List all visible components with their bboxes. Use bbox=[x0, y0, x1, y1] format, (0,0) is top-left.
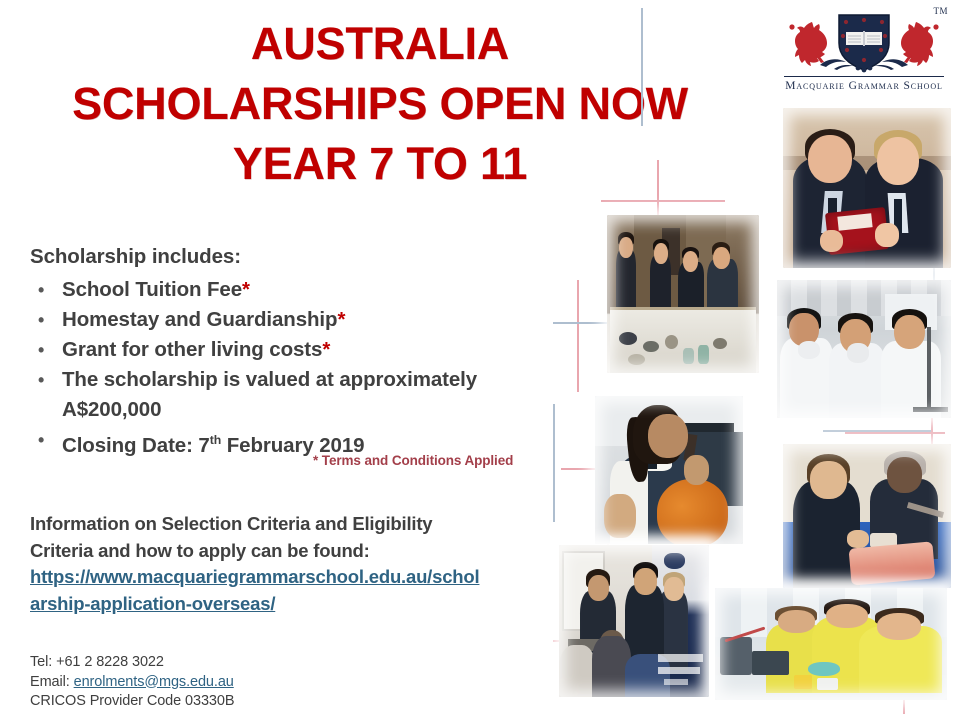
decor-line-horizontal-pink-1 bbox=[601, 200, 725, 202]
url-line-2: arship-application-overseas/ bbox=[30, 591, 530, 618]
information-line-2: Criteria and how to apply can be found: bbox=[30, 540, 370, 561]
list-item: • School Tuition Fee* bbox=[30, 275, 540, 305]
list-item-label: Grant for other living costs bbox=[62, 338, 322, 361]
photo-students-presentation bbox=[559, 545, 709, 697]
photo-student-playing-cello bbox=[595, 396, 743, 544]
decor-line-vertical-pink-1 bbox=[577, 280, 579, 392]
terms-and-conditions-note: * Terms and Conditions Applied bbox=[313, 453, 513, 468]
scholarship-includes-heading: Scholarship includes: bbox=[30, 245, 241, 269]
list-item-label: School Tuition Fee bbox=[62, 278, 242, 301]
decor-line-horizontal-pink-3 bbox=[845, 432, 945, 434]
bullet-dot: • bbox=[38, 365, 44, 395]
photo-students-art-activity bbox=[783, 444, 951, 588]
scholarship-application-link[interactable]: https://www.macquariegrammarschool.edu.a… bbox=[30, 564, 530, 617]
email-link[interactable]: enrolments@mgs.edu.au bbox=[74, 674, 234, 690]
photo-two-students-reading-book bbox=[783, 108, 951, 268]
email-label: Email: bbox=[30, 674, 74, 690]
decor-line-vertical-blue-1 bbox=[641, 8, 643, 126]
list-item: • Grant for other living costs* bbox=[30, 335, 540, 365]
photo-students-science-laboratory bbox=[777, 280, 951, 418]
bullet-dot: • bbox=[38, 425, 44, 455]
list-item-label: Homestay and Guardianship bbox=[62, 308, 337, 331]
asterisk-mark: * bbox=[322, 338, 330, 361]
closing-date-ordinal: th bbox=[210, 433, 221, 447]
list-item: • The scholarship is valued at approxima… bbox=[30, 365, 540, 425]
url-line-1: https://www.macquariegrammarschool.edu.a… bbox=[30, 564, 530, 591]
closing-date-prefix: Closing Date: 7 bbox=[62, 434, 210, 457]
information-line-1: Information on Selection Criteria and El… bbox=[30, 513, 432, 534]
bullet-dot: • bbox=[38, 335, 44, 365]
photo-students-museum-display-case bbox=[607, 215, 759, 373]
asterisk-mark: * bbox=[337, 308, 345, 331]
list-item-label: The scholarship is valued at approximate… bbox=[62, 368, 477, 421]
scholarship-items-list: • School Tuition Fee* • Homestay and Gua… bbox=[30, 275, 540, 461]
photo-collage bbox=[545, 0, 960, 717]
contact-telephone: Tel: +61 2 8228 3022 bbox=[30, 653, 234, 673]
contact-block: Tel: +61 2 8228 3022 Email: enrolments@m… bbox=[30, 653, 234, 712]
contact-email-row: Email: enrolments@mgs.edu.au bbox=[30, 673, 234, 693]
bullet-dot: • bbox=[38, 275, 44, 305]
decor-line-vertical-blue-3 bbox=[553, 404, 555, 522]
bullet-dot: • bbox=[38, 305, 44, 335]
photo-students-electronics-workshop bbox=[715, 588, 947, 700]
list-item: • Homestay and Guardianship* bbox=[30, 305, 540, 335]
cricos-provider-code: CRICOS Provider Code 03330B bbox=[30, 692, 234, 712]
asterisk-mark: * bbox=[242, 278, 250, 301]
information-block: Information on Selection Criteria and El… bbox=[30, 511, 530, 617]
